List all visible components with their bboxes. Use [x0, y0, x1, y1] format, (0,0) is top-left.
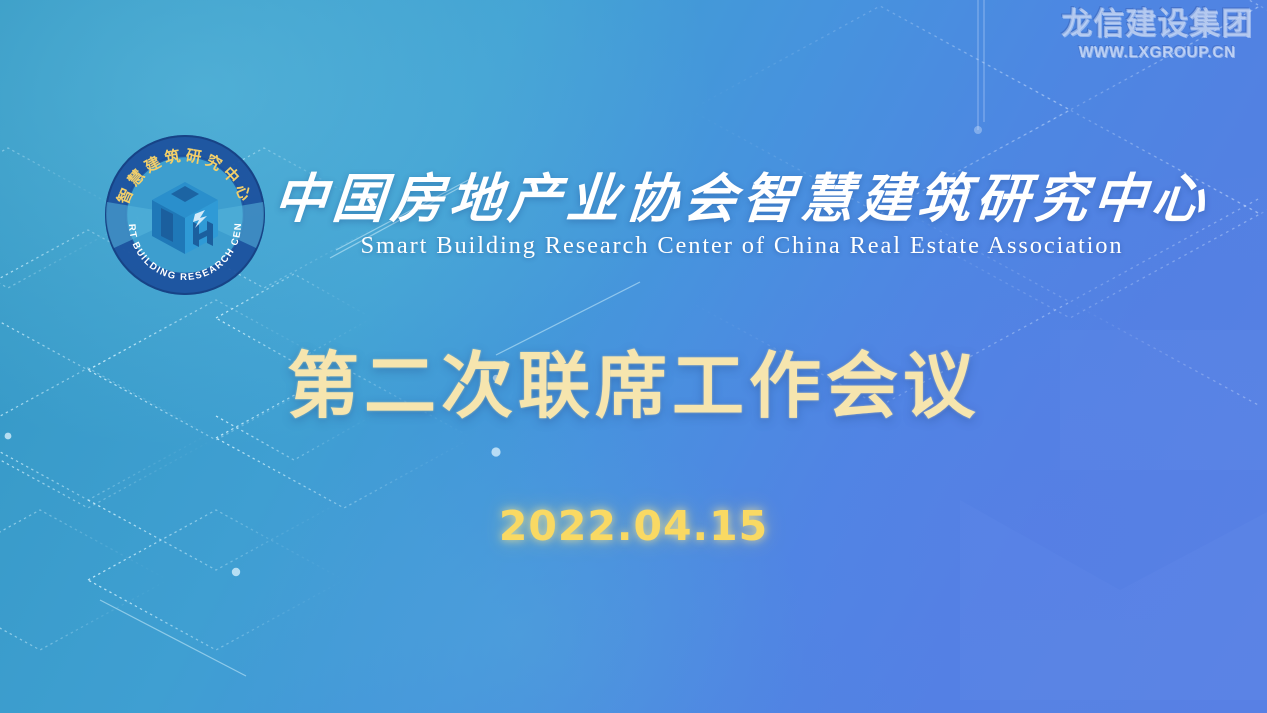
meeting-date: 2022.04.15 — [0, 506, 1267, 547]
watermark-website: WWW.LXGROUP.CN — [1061, 45, 1253, 61]
organization-name-block: 中国房地产业协会智慧建筑研究中心 Smart Building Research… — [274, 170, 1210, 260]
meeting-title: 第二次联席工作会议 — [0, 350, 1267, 422]
organization-seal-logo: 智慧建筑研究中心 SMART BUILDING RESEARCH CENTER — [102, 132, 268, 298]
watermark: 龙信建设集团 WWW.LXGROUP.CN — [1061, 8, 1253, 61]
watermark-company-name: 龙信建设集团 — [1061, 8, 1253, 39]
organization-name-cn: 中国房地产业协会智慧建筑研究中心 — [271, 170, 1212, 229]
organization-name-en: Smart Building Research Center of China … — [361, 232, 1124, 260]
seal-logo-icon: 智慧建筑研究中心 SMART BUILDING RESEARCH CENTER — [102, 132, 268, 298]
slide-canvas: 龙信建设集团 WWW.LXGROUP.CN — [0, 0, 1267, 713]
organization-header: 智慧建筑研究中心 SMART BUILDING RESEARCH CENTER … — [0, 132, 1267, 298]
